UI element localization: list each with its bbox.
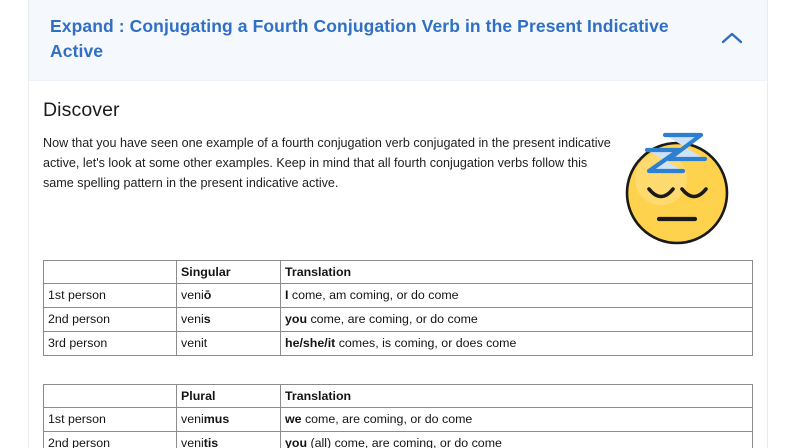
table-header-translation: Translation	[281, 384, 753, 408]
expand-card: Expand : Conjugating a Fourth Conjugatio…	[28, 0, 768, 448]
table-header-translation: Translation	[281, 260, 753, 284]
translation-rest: comes, is coming, or does come	[335, 336, 516, 350]
row-person: 2nd person	[44, 308, 177, 332]
verb-ending: ō	[204, 288, 212, 302]
row-verb-form: venis	[177, 308, 281, 332]
verb-ending: t	[204, 336, 207, 350]
row-verb-form: venit	[177, 331, 281, 355]
row-translation: we come, are coming, or do come	[281, 408, 753, 432]
singular-conjugation-table: Singular Translation 1st person veniō I …	[43, 260, 753, 356]
table-header-row: Plural Translation	[44, 384, 753, 408]
row-person: 3rd person	[44, 331, 177, 355]
verb-stem: veni	[181, 436, 204, 448]
page-root: Expand : Conjugating a Fourth Conjugatio…	[0, 0, 795, 448]
table-header-number: Plural	[177, 384, 281, 408]
table-cell-corner	[44, 384, 177, 408]
row-verb-form: venimus	[177, 408, 281, 432]
row-translation: I come, am coming, or do come	[281, 284, 753, 308]
verb-stem: veni	[181, 412, 204, 426]
row-person: 1st person	[44, 284, 177, 308]
row-person: 1st person	[44, 408, 177, 432]
row-translation: he/she/it comes, is coming, or does come	[281, 331, 753, 355]
translation-rest: come, are coming, or do come	[307, 312, 478, 326]
expand-card-title: Expand : Conjugating a Fourth Conjugatio…	[50, 14, 697, 64]
verb-ending: tis	[204, 436, 218, 448]
translation-rest: come, am coming, or do come	[288, 288, 458, 302]
translation-rest: come, are coming, or do come	[302, 412, 473, 426]
table-row: 2nd person venis you come, are coming, o…	[44, 308, 753, 332]
chevron-up-icon[interactable]	[719, 28, 745, 48]
expand-card-body: Discover Now that you have seen one exam…	[29, 81, 767, 448]
verb-ending: mus	[204, 412, 229, 426]
row-verb-form: venitis	[177, 432, 281, 448]
table-row: 1st person venimus we come, are coming, …	[44, 408, 753, 432]
table-row: 1st person veniō I come, am coming, or d…	[44, 284, 753, 308]
translation-pronoun: you	[285, 436, 307, 448]
table-row: 3rd person venit he/she/it comes, is com…	[44, 331, 753, 355]
plural-conjugation-table-block: Plural Translation 1st person venimus we…	[43, 384, 749, 448]
verb-stem: veni	[181, 312, 204, 326]
singular-conjugation-table-block: Singular Translation 1st person veniō I …	[43, 260, 749, 356]
table-row: 2nd person venitis you (all) come, are c…	[44, 432, 753, 448]
plural-conjugation-table: Plural Translation 1st person venimus we…	[43, 384, 753, 448]
table-header-number: Singular	[177, 260, 281, 284]
translation-pronoun: we	[285, 412, 302, 426]
row-translation: you come, are coming, or do come	[281, 308, 753, 332]
intro-paragraph: Now that you have seen one example of a …	[43, 133, 618, 194]
translation-rest: (all) come, are coming, or do come	[307, 436, 502, 448]
discover-heading: Discover	[43, 99, 749, 122]
verb-stem: veni	[181, 288, 204, 302]
translation-pronoun: he/she/it	[285, 336, 335, 350]
table-cell-corner	[44, 260, 177, 284]
table-header-row: Singular Translation	[44, 260, 753, 284]
row-verb-form: veniō	[177, 284, 281, 308]
translation-pronoun: you	[285, 312, 307, 326]
sleeping-face-emoji	[609, 117, 745, 249]
verb-stem: veni	[181, 336, 204, 350]
row-person: 2nd person	[44, 432, 177, 448]
expand-card-header[interactable]: Expand : Conjugating a Fourth Conjugatio…	[29, 0, 767, 81]
verb-ending: s	[204, 312, 211, 326]
row-translation: you (all) come, are coming, or do come	[281, 432, 753, 448]
intro-block: Now that you have seen one example of a …	[43, 133, 749, 251]
